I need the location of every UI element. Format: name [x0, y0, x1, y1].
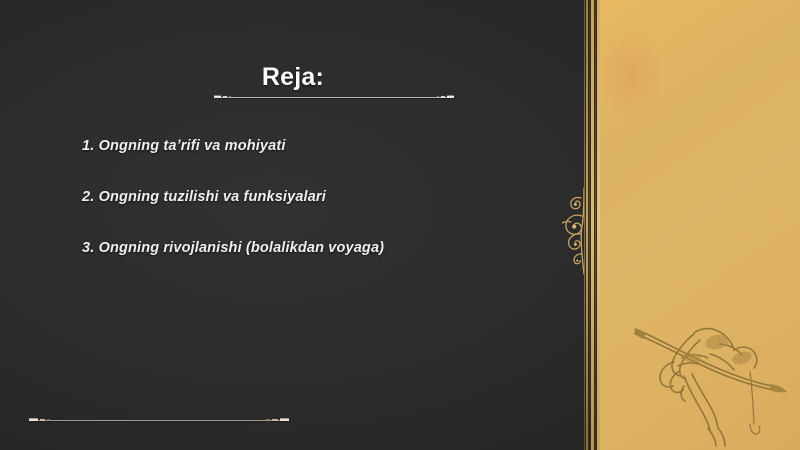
- pinstripe: [586, 0, 588, 450]
- divider-line-icon: [28, 413, 290, 427]
- bottom-divider-ornament: [28, 413, 290, 427]
- panel-pinstripe-border: [583, 0, 601, 450]
- list-item: 2. Ongning tuzilishi va funksiyalari: [82, 189, 552, 205]
- list-item: 1. Ongning taʼrifi va mohiyati: [82, 138, 552, 154]
- divider-line-icon: [212, 90, 456, 104]
- presentation-slide: Reja: 1. Ongning taʼrifi va mohiyati 2. …: [0, 0, 800, 450]
- title-divider-ornament: [212, 90, 456, 104]
- list-item: 3. Ongning rivojlanishi (bolalikdan voya…: [82, 240, 552, 256]
- pinstripe: [595, 0, 596, 450]
- plan-list: 1. Ongning taʼrifi va mohiyati 2. Ongnin…: [82, 138, 552, 256]
- hand-holding-pen-icon: [622, 300, 800, 450]
- hand-illustration-svg: [622, 300, 800, 450]
- page-title: Reja:: [0, 63, 586, 92]
- pinstripe: [589, 0, 590, 450]
- pinstripe: [591, 0, 594, 450]
- pinstripe: [584, 0, 585, 450]
- pinstripe: [597, 0, 600, 450]
